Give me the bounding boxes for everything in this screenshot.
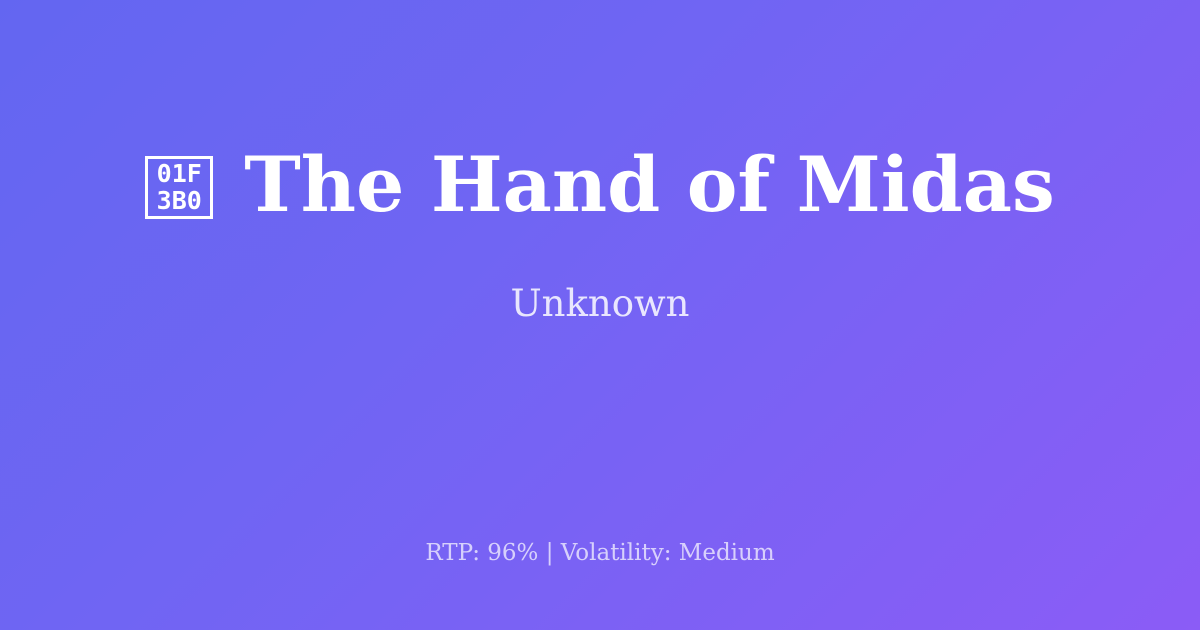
tofu-codepoint-top: 01F [157,160,202,187]
og-share-card: 01F 3B0 The Hand of Midas Unknown RTP: 9… [0,0,1200,630]
card-main-content: 01F 3B0 The Hand of Midas Unknown [0,0,1200,470]
page-subtitle: Unknown [510,284,689,325]
title-row: 01F 3B0 The Hand of Midas [145,145,1055,225]
card-footer: RTP: 96% | Volatility: Medium [0,540,1200,568]
tofu-codepoint-bottom: 3B0 [157,187,202,214]
slot-machine-icon: 01F 3B0 [145,156,213,219]
page-title: The Hand of Midas [244,145,1055,225]
game-meta-line: RTP: 96% | Volatility: Medium [425,540,774,568]
